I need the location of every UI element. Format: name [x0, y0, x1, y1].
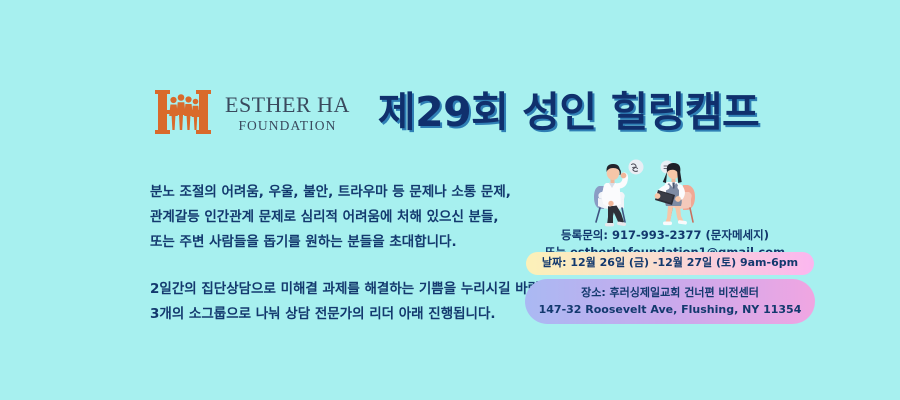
paragraph-line: 분노 조절의 어려움, 우울, 불안, 트라우마 등 문제나 소통 문제,	[150, 180, 550, 205]
logo-subtitle: FOUNDATION	[238, 119, 336, 133]
info-badges: 날짜: 12월 26일 (금) -12월 27일 (토) 9am-6pm 장소:…	[520, 252, 820, 324]
registration-phone-line: 등록문의: 917-993-2377 (문자메세지)	[520, 227, 810, 244]
paragraph-line: 관계갈등 인간관계 문제로 심리적 어려움에 처해 있으신 분들,	[150, 205, 550, 230]
logo-name: ESTHER HA	[225, 94, 350, 116]
logo-wordmark: ESTHER HA FOUNDATION	[225, 94, 350, 133]
poster-canvas: ESTHER HA FOUNDATION 제29회 성인 힐링캠프 분노 조절의…	[0, 0, 900, 400]
page-title: 제29회 성인 힐링캠프	[378, 92, 759, 133]
venue-name: 장소: 후러싱제일교회 건너편 비전센터	[539, 284, 802, 301]
paragraph-line: 3개의 소그룹으로 나눠 상담 전문가의 리더 아래 진행됩니다.	[150, 302, 550, 327]
venue-address: 147-32 Roosevelt Ave, Flushing, NY 11354	[539, 301, 802, 318]
paragraph-line: 또는 주변 사람들을 돕기를 원하는 분들을 초대합니다.	[150, 230, 550, 255]
counselor-figure-right	[655, 163, 695, 225]
body-copy: 분노 조절의 어려움, 우울, 불안, 트라우마 등 문제나 소통 문제, 관계…	[150, 180, 550, 327]
client-figure-left	[594, 164, 626, 226]
thought-bubble-left	[629, 160, 644, 178]
venue-badge: 장소: 후러싱제일교회 건너편 비전센터 147-32 Roosevelt Av…	[525, 279, 816, 324]
paragraph-line: 2일간의 집단상담으로 미해결 과제를 해결하는 기쁨을 누리시길 바랍니다.	[150, 277, 550, 302]
h-monogram-people-logo-icon	[155, 86, 211, 138]
poster-header: ESTHER HA FOUNDATION 제29회 성인 힐링캠프	[155, 86, 759, 138]
date-badge: 날짜: 12월 26일 (금) -12월 27일 (토) 9am-6pm	[526, 252, 814, 275]
paragraph-invitation: 분노 조절의 어려움, 우울, 불안, 트라우마 등 문제나 소통 문제, 관계…	[150, 180, 550, 255]
paragraph-program: 2일간의 집단상담으로 미해결 과제를 해결하는 기쁨을 누리시길 바랍니다. …	[150, 277, 550, 327]
counseling-session-illustration	[585, 158, 720, 228]
